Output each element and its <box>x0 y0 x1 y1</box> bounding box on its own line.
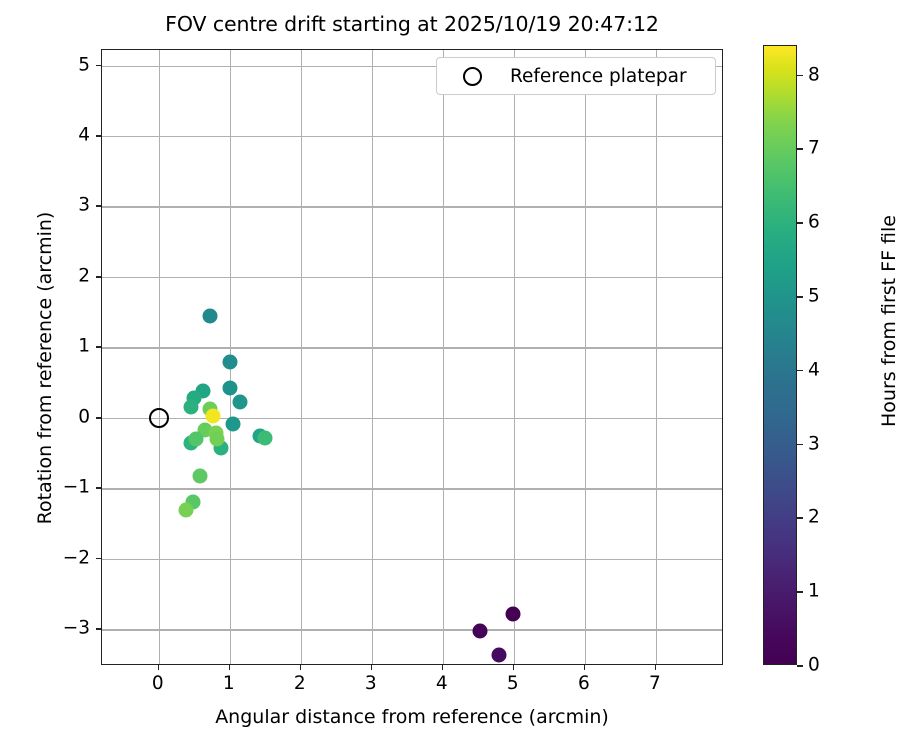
y-axis-tick-label: 2 <box>78 265 90 286</box>
colorbar-tick <box>797 591 803 593</box>
page-title: FOV centre drift starting at 2025/10/19 … <box>0 12 824 36</box>
x-axis-tick <box>584 665 586 670</box>
colorbar: 012345678 <box>763 45 797 665</box>
y-axis-tick <box>96 276 101 278</box>
x-axis-tick <box>442 665 444 670</box>
scatter-point <box>222 381 237 396</box>
y-axis-tick-label: 1 <box>78 336 90 357</box>
x-axis-tick-label: 6 <box>578 673 590 694</box>
gridline-horizontal <box>102 136 722 137</box>
y-axis-tick-label: 4 <box>78 124 90 145</box>
scatter-point <box>192 468 207 483</box>
y-axis-label: Rotation from reference (arcmin) <box>34 60 56 676</box>
scatter-point <box>210 432 225 447</box>
scatter-point <box>491 647 506 662</box>
gridline-vertical <box>443 50 444 664</box>
x-axis-tick <box>371 665 373 670</box>
scatter-point <box>226 417 241 432</box>
gridline-vertical <box>372 50 373 664</box>
x-axis-tick-label: 7 <box>649 673 661 694</box>
y-axis-tick <box>96 205 101 207</box>
colorbar-tick-label: 5 <box>808 285 820 306</box>
colorbar-tick <box>797 444 803 446</box>
gridline-vertical <box>585 50 586 664</box>
gridline-vertical <box>301 50 302 664</box>
y-axis-tick <box>96 417 101 419</box>
y-axis-tick <box>96 487 101 489</box>
y-axis-tick <box>96 65 101 67</box>
colorbar-tick <box>797 296 803 298</box>
colorbar-tick-label: 6 <box>808 212 820 233</box>
gridline-horizontal <box>102 206 722 207</box>
colorbar-tick <box>797 148 803 150</box>
gridline-vertical <box>656 50 657 664</box>
scatter-point <box>178 502 193 517</box>
colorbar-tick-label: 3 <box>808 433 820 454</box>
x-axis-tick-label: 3 <box>365 673 377 694</box>
scatter-point <box>183 400 198 415</box>
reference-platepar-marker-icon <box>463 67 482 86</box>
x-axis-label: Angular distance from reference (arcmin) <box>101 706 723 728</box>
colorbar-tick-label: 8 <box>808 64 820 85</box>
y-axis-tick <box>96 135 101 137</box>
plot-axes <box>101 49 723 665</box>
y-axis-tick-label: −2 <box>63 547 90 568</box>
colorbar-tick <box>797 517 803 519</box>
y-axis-tick-label: 5 <box>78 54 90 75</box>
gridline-horizontal <box>102 418 722 419</box>
gridline-horizontal <box>102 277 722 278</box>
gridline-horizontal <box>102 347 722 348</box>
colorbar-tick <box>797 665 803 667</box>
gridline-vertical <box>159 50 160 664</box>
legend-item-label: Reference platepar <box>510 66 687 87</box>
colorbar-gradient <box>763 45 797 665</box>
y-axis-tick <box>96 628 101 630</box>
colorbar-tick-label: 2 <box>808 507 820 528</box>
colorbar-tick-label: 7 <box>808 138 820 159</box>
y-axis-tick-label: −1 <box>63 477 90 498</box>
gridline-horizontal <box>102 629 722 630</box>
y-axis-tick <box>96 346 101 348</box>
colorbar-tick-label: 0 <box>808 655 820 676</box>
colorbar-tick-label: 4 <box>808 359 820 380</box>
gridline-horizontal <box>102 488 722 489</box>
scatter-point <box>202 308 217 323</box>
scatter-point <box>506 606 521 621</box>
x-axis-tick-label: 5 <box>507 673 519 694</box>
x-axis-tick <box>229 665 231 670</box>
colorbar-label: Hours from first FF file <box>878 11 900 631</box>
scatter-point <box>472 624 487 639</box>
y-axis-tick-label: 0 <box>78 406 90 427</box>
y-axis-tick <box>96 558 101 560</box>
x-axis-tick <box>655 665 657 670</box>
x-axis-tick-label: 2 <box>294 673 306 694</box>
x-axis-tick <box>300 665 302 670</box>
x-axis-tick-label: 1 <box>223 673 235 694</box>
gridline-horizontal <box>102 559 722 560</box>
colorbar-tick <box>797 222 803 224</box>
legend[interactable]: Reference platepar <box>436 57 716 95</box>
y-axis-tick-label: 3 <box>78 195 90 216</box>
x-axis-tick-label: 4 <box>436 673 448 694</box>
gridline-vertical <box>514 50 515 664</box>
scatter-point <box>258 431 273 446</box>
x-axis-tick <box>158 665 160 670</box>
reference-platepar-point <box>149 408 169 428</box>
matplotlib-figure: FOV centre drift starting at 2025/10/19 … <box>0 0 900 750</box>
colorbar-tick-label: 1 <box>808 581 820 602</box>
scatter-point <box>222 354 237 369</box>
scatter-point <box>233 394 248 409</box>
x-axis-tick-label: 0 <box>152 673 164 694</box>
scatter-point <box>206 409 221 424</box>
colorbar-tick <box>797 370 803 372</box>
x-axis-tick <box>513 665 515 670</box>
colorbar-tick <box>797 75 803 77</box>
y-axis-tick-label: −3 <box>63 618 90 639</box>
scatter-point <box>188 432 203 447</box>
